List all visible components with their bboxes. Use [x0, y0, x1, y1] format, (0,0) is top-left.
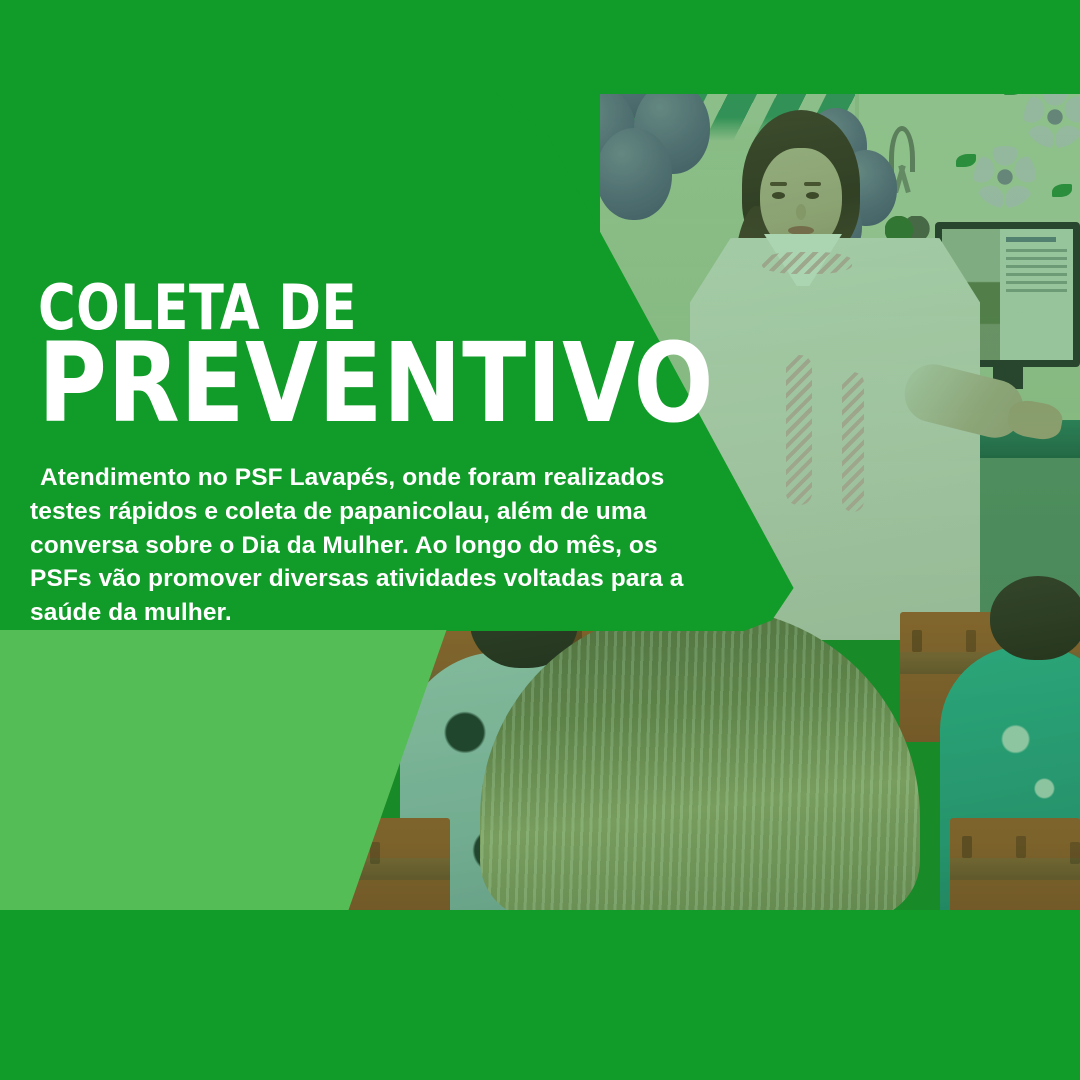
- top-green-bar: [0, 0, 1080, 94]
- body-copy: Atendimento no PSF Lavapés, onde foram r…: [30, 461, 720, 630]
- page-title: COLETA DE PREVENTIVO: [38, 283, 738, 428]
- headline-line-2: PREVENTIVO: [38, 338, 703, 428]
- social-media-poster: COLETA DE PREVENTIVO Atendimento no PSF …: [0, 0, 1080, 1080]
- footer-contact-bar: 35 3562 - 3750 Www.novaresende.mg.gov.br: [0, 910, 1080, 1080]
- body-paragraph: Atendimento no PSF Lavapés, onde foram r…: [30, 461, 720, 630]
